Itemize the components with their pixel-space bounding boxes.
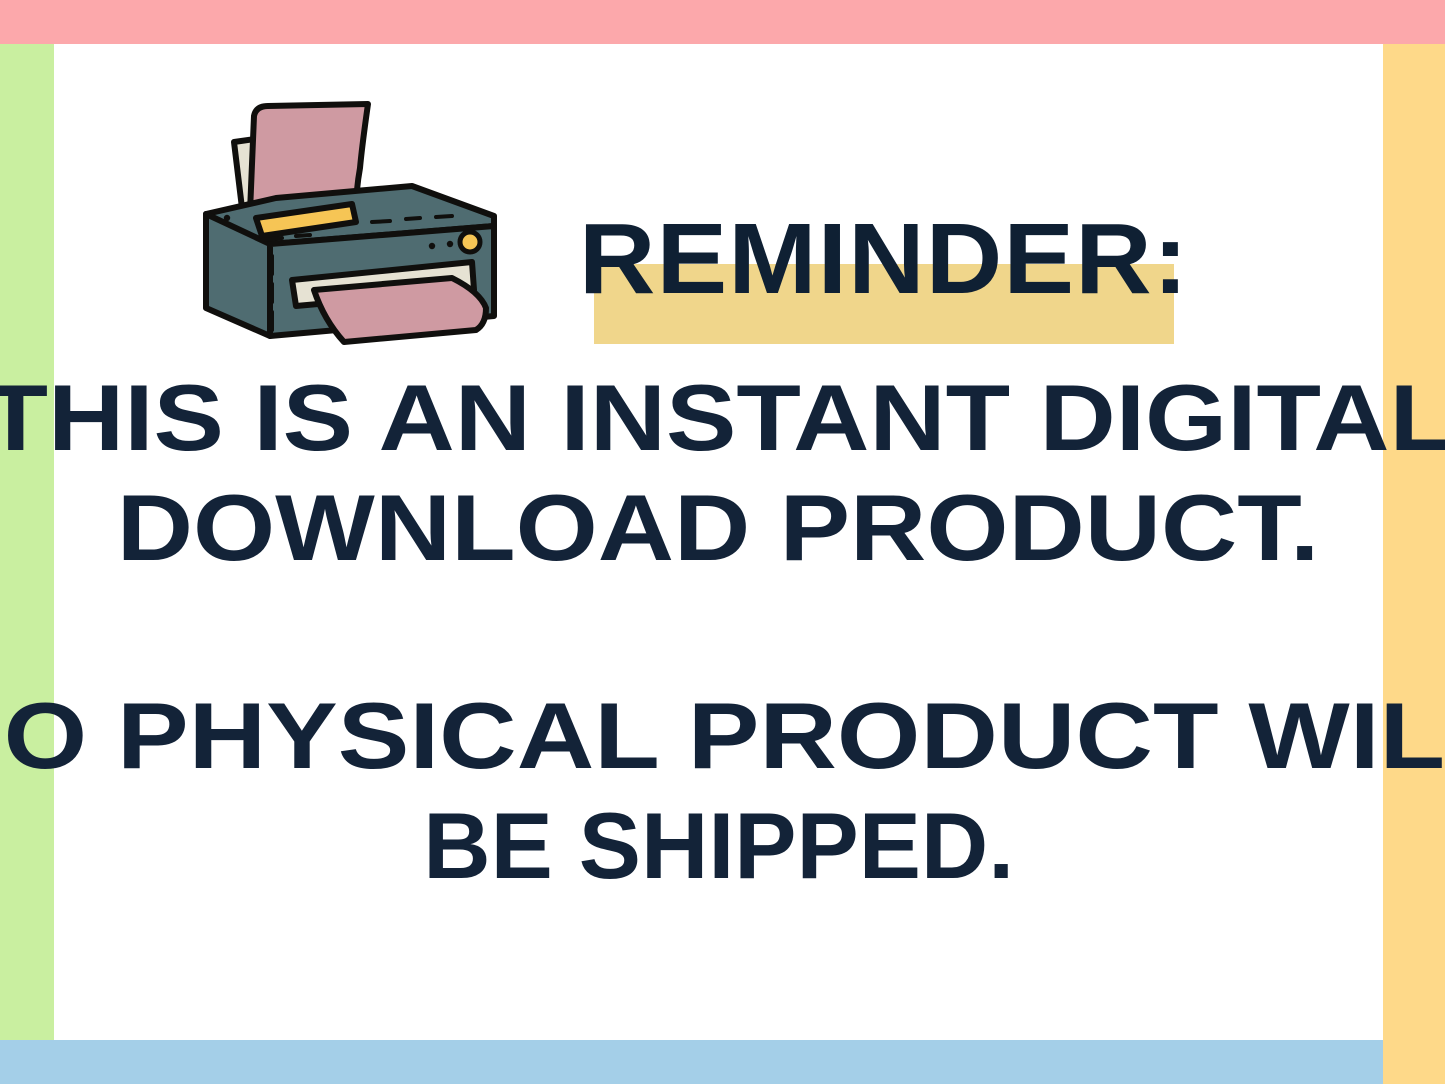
body-line-4: BE SHIPPED.: [54, 802, 1383, 890]
printer-icon: [184, 94, 524, 364]
page-title: REMINDER:: [566, 209, 1202, 309]
body-paragraph-gap: [54, 572, 1383, 692]
body-line-1-text: THIS IS AN INSTANT DIGITAL: [0, 371, 1445, 464]
body-line-4-text: BE SHIPPED.: [423, 799, 1014, 892]
body-line-3-text: NO PHYSICAL PRODUCT WILL: [0, 689, 1445, 782]
top-pink-band: [0, 0, 1445, 44]
body-line-3: NO PHYSICAL PRODUCT WILL: [54, 692, 1383, 780]
right-yellow-band: [1383, 44, 1445, 1084]
body-line-2-text: DOWNLOAD PRODUCT.: [117, 481, 1320, 574]
body-line-2: DOWNLOAD PRODUCT.: [54, 484, 1383, 572]
body-copy-block: THIS IS AN INSTANT DIGITAL DOWNLOAD PROD…: [54, 374, 1383, 890]
left-green-band: [0, 44, 54, 1040]
bottom-blue-band: [0, 1040, 1383, 1084]
body-line-1: THIS IS AN INSTANT DIGITAL: [54, 374, 1383, 462]
reminder-poster: REMINDER: THIS IS AN INSTANT DIGITAL DOW…: [0, 0, 1445, 1084]
reminder-heading-group: REMINDER:: [584, 209, 1184, 344]
poster-canvas: REMINDER: THIS IS AN INSTANT DIGITAL DOW…: [54, 44, 1383, 1040]
poster-header-row: REMINDER:: [54, 44, 1383, 359]
